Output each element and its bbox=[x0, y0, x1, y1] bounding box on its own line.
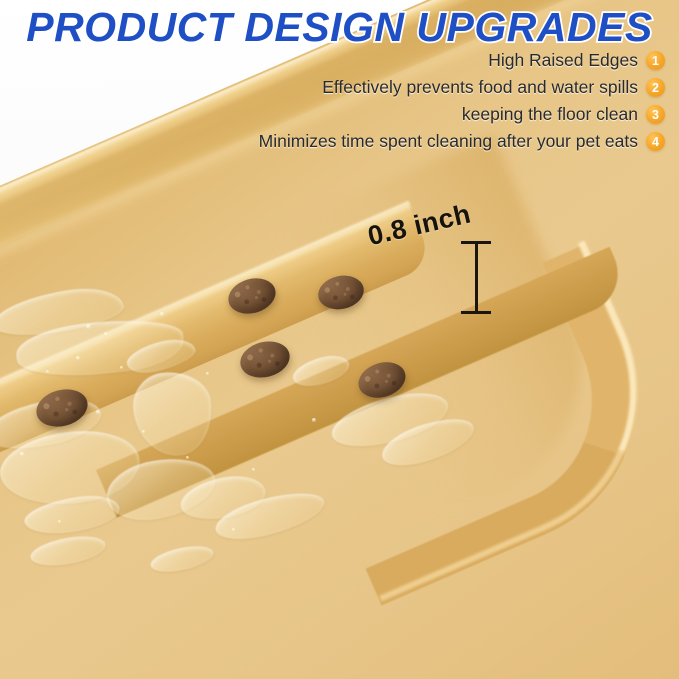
feature-label: Minimizes time spent cleaning after your… bbox=[259, 131, 638, 152]
feature-item: Effectively prevents food and water spil… bbox=[322, 77, 665, 98]
feature-list: High Raised Edges 1 Effectively prevents… bbox=[259, 50, 665, 152]
feature-number-badge: 3 bbox=[646, 105, 665, 124]
feature-item: keeping the floor clean 3 bbox=[462, 104, 665, 125]
product-marketing-image: 0.8 inch PRODUCT DESIGN UPGRADES High Ra… bbox=[0, 0, 679, 679]
feature-label: keeping the floor clean bbox=[462, 104, 638, 125]
feature-item: High Raised Edges 1 bbox=[488, 50, 665, 71]
feature-label: Effectively prevents food and water spil… bbox=[322, 77, 638, 98]
feature-number-badge: 2 bbox=[646, 78, 665, 97]
feature-number-badge: 4 bbox=[646, 132, 665, 151]
feature-item: Minimizes time spent cleaning after your… bbox=[259, 131, 665, 152]
page-title: PRODUCT DESIGN UPGRADES bbox=[0, 4, 679, 51]
feature-label: High Raised Edges bbox=[488, 50, 638, 71]
feature-number-badge: 1 bbox=[646, 51, 665, 70]
